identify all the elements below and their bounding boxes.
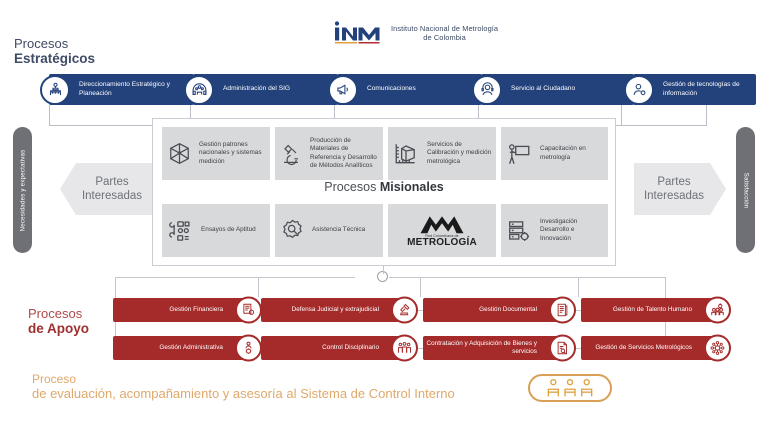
misional-processes-panel: Gestión patrones nacionales y sistemas m… [152,118,616,266]
network-nodes-icon [704,335,731,362]
support-label-7: Gestión de Servicios Metrológicos [595,344,722,352]
inm-logo: Instituto Nacional de Metrología de Colo… [332,20,498,46]
estrategicos-line2: Estratégicos [14,51,95,67]
strategic-box-direccionamiento[interactable]: Direccionamiento Estratégico y Planeació… [49,74,194,105]
org-chart-icon [40,75,70,105]
user-gear-icon [624,75,654,105]
connector-blue-v1 [49,105,50,126]
stakeholders-left: Partes Interesadas [60,163,152,215]
strategic-label-2: Comunicaciones [367,85,422,94]
misional-label-b1: Asistencia Técnica [309,226,368,234]
support-box-control-disciplinario[interactable]: Control Disciplinario [261,336,409,360]
misional-tile-ensayos[interactable]: Ensayos de Aptitud [162,204,270,257]
misional-caption-strong: Misionales [380,180,444,194]
support-box-gestion-administrativa[interactable]: Gestión Administrativa [113,336,253,360]
misional-tile-asistencia[interactable]: Asistencia Técnica [275,204,383,257]
connector-red-h-left [115,277,355,278]
connector-red-v1 [115,277,116,297]
org-name-line1: Instituto Nacional de Metrología [391,24,498,33]
strategic-process-row: Direccionamiento Estratégico y Planeació… [40,74,756,106]
network-people-icon [184,75,214,105]
strategic-label-1: Administración del SIG [223,85,296,94]
misional-tile-capacitacion[interactable]: Capacitación en metrología [501,127,608,180]
server-gear-icon [501,218,537,244]
documents-icon [549,297,576,324]
satisfaction-bar: Satisfacción [736,127,755,253]
lab-tools-icon [162,218,198,244]
estrategicos-line1: Procesos [14,36,95,51]
misional-label-b3: Investigación Desarrollo e Innovación [537,218,608,243]
support-box-gestion-financiera[interactable]: Gestión Financiera [113,298,253,322]
strategic-label-3: Servicio al Ciudadano [511,85,581,94]
gavel-icon [391,297,418,324]
connector-red-h-right [389,277,666,278]
headset-agent-icon [472,75,502,105]
misional-tile-investigacion[interactable]: Investigación Desarrollo e Innovación [501,204,608,257]
needs-expectations-label: Necesidades y expectativas [19,149,26,231]
misional-label-t2: Servicios de Calibración y medición metr… [424,141,496,166]
misional-tile-materiales[interactable]: Producción de Materiales de Referencia y… [275,127,383,180]
presenter-board-icon [501,141,537,167]
misional-label-t1: Producción de Materiales de Referencia y… [307,137,383,171]
connector-red-v5 [665,277,666,297]
support-box-defensa-judicial[interactable]: Defensa Judicial y extrajudicial [261,298,409,322]
support-box-talento-humano[interactable]: Gestión de Talento Humano [581,298,722,322]
satisfaction-label: Satisfacción [742,172,749,208]
strategic-label-4: Gestión de tecnologías de información [663,81,756,98]
microscope-icon [275,142,307,166]
support-box-contratacion[interactable]: Contratación y Adquisición de Bienes y s… [423,336,567,360]
inm-logo-mark [332,20,384,46]
connector-blue-v5 [621,105,622,126]
strategic-box-comunicaciones[interactable]: Comunicaciones [337,74,482,105]
document-search-icon [549,335,576,362]
apoyo-line2: de Apoyo [28,321,89,337]
evaluation-icon-pill[interactable] [528,374,612,402]
stakeholders-left-line1: Partes [82,175,142,189]
three-people-icon [391,335,418,362]
org-name-line2: de Colombia [391,33,498,42]
misional-tile-rcm[interactable]: Red Colombiana de METROLOGÍA [388,204,496,257]
section-title-evaluacion: Proceso de evaluación, acompañamiento y … [32,372,455,401]
badge-search-icon [275,218,309,243]
connector-red-stem [383,266,384,274]
misional-caption: Procesos Misionales [153,180,615,194]
misional-caption-prefix: Procesos [324,180,380,194]
team-gear-icon [704,297,731,324]
evaluacion-line1: Proceso [32,372,455,386]
misional-tile-patrones[interactable]: Gestión patrones nacionales y sistemas m… [162,127,270,180]
connector-red-v3 [420,277,421,297]
stakeholders-left-line2: Interesadas [82,189,142,203]
megaphone-icon [328,75,358,105]
rcm-logo-main: METROLOGÍA [407,238,477,248]
misional-label-b0: Ensayos de Aptitud [198,226,259,234]
needs-expectations-bar: Necesidades y expectativas [13,127,32,253]
stakeholders-right: Partes Interesadas [634,163,726,215]
process-map-diagram: Instituto Nacional de Metrología de Colo… [0,0,768,432]
strategic-box-sig[interactable]: Administración del SIG [193,74,338,105]
strategic-box-tecnologias[interactable]: Gestión de tecnologías de información [633,74,756,105]
support-box-gestion-documental[interactable]: Gestión Documental [423,298,567,322]
misional-label-t0: Gestión patrones nacionales y sistemas m… [196,141,270,166]
connector-red-v2 [258,277,259,297]
strategic-label-0: Direccionamiento Estratégico y Planeació… [79,81,194,98]
misional-tile-calibracion[interactable]: Servicios de Calibración y medición metr… [388,127,496,180]
apoyo-line1: Procesos [28,306,89,321]
stakeholders-right-line1: Partes [644,175,704,189]
cube-lattice-icon [162,141,196,166]
misional-label-t3: Capacitación en metrología [537,145,608,162]
person-gear-icon [235,335,262,362]
section-title-apoyo: Procesos de Apoyo [28,306,89,337]
connector-red-v4 [578,277,579,297]
support-label-5: Contratación y Adquisición de Bienes y s… [423,340,567,357]
measure-cube-icon [388,141,424,167]
section-title-estrategicos: Procesos Estratégicos [14,36,95,67]
stakeholders-right-line2: Interesadas [644,189,704,203]
inm-logo-text: Instituto Nacional de Metrología de Colo… [391,24,498,43]
strategic-box-servicio-ciudadano[interactable]: Servicio al Ciudadano [481,74,634,105]
connector-blue-v6 [706,105,707,126]
evaluacion-line2: de evaluación, acompañamiento y asesoría… [32,386,455,401]
invoice-gear-icon [235,297,262,324]
rcm-logo: Red Colombiana de METROLOGÍA [388,213,496,248]
three-persons-orange-icon [544,378,596,398]
support-box-servicios-metrologicos[interactable]: Gestión de Servicios Metrológicos [581,336,722,360]
